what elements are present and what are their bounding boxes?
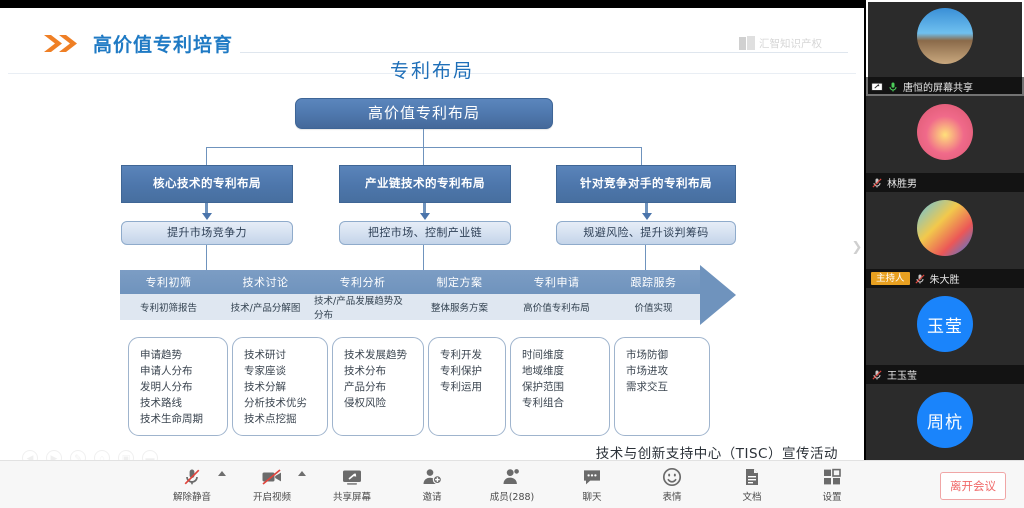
ppt-control-1[interactable]: ◀ (22, 450, 38, 460)
ppt-control-5[interactable]: ▣ (118, 450, 134, 460)
avatar: 周杭 (917, 392, 973, 448)
participant-tile-3[interactable]: 主持人朱大胜 (866, 192, 1024, 288)
participant-name: 王玉莹 (887, 367, 917, 382)
meeting-window: 高价值专利培育 汇智知识产权 专利布局 高价值专利布局 (0, 0, 1024, 508)
toolbar-item-label: 文档 (742, 489, 761, 503)
connector-band-1 (206, 245, 207, 270)
mic-muted-icon (914, 273, 926, 285)
participants-panel[interactable]: ▾ 唐恒的屏幕共享林胜男主持人朱大胜玉莹王玉莹周杭周杭 (866, 0, 1024, 460)
node-root-label: 高价值专利布局 (368, 105, 480, 122)
brand-logo: 汇智知识产权 (739, 36, 822, 51)
participant-name-bar: 林胜男 (866, 173, 1024, 192)
caret-up-icon[interactable] (298, 471, 306, 476)
band-stage-row: 专利初筛技术讨论专利分析制定方案专利申请跟踪服务 (120, 270, 702, 294)
band-output-3: 技术/产品发展趋势及分布 (314, 294, 411, 320)
band-stage-1: 专利初筛 (120, 270, 217, 294)
participant-name-bar: 王玉莹 (866, 365, 1024, 384)
arrow-head-2 (420, 213, 430, 220)
arrow-head-1 (202, 213, 212, 220)
chevron-right-icon: ❯ (852, 239, 863, 255)
connector-band-3 (645, 245, 646, 270)
toolbar-开启视频-button[interactable]: 开启视频 (245, 467, 299, 503)
avatar (917, 8, 973, 64)
avatar: 玉莹 (917, 296, 973, 352)
mic-muted-icon (182, 467, 202, 487)
participant-tile-4[interactable]: 玉莹王玉莹 (866, 288, 1024, 384)
avatar (917, 104, 973, 160)
screen-share-icon (871, 81, 883, 93)
connector-drop-2 (423, 147, 424, 165)
node-branch-2-label: 产业链技术的专利布局 (365, 177, 485, 190)
host-badge: 主持人 (871, 272, 910, 286)
node-outcome-2: 把控市场、控制产业链 (339, 221, 511, 245)
ppt-control-2[interactable]: ▶ (46, 450, 62, 460)
avatar (917, 200, 973, 256)
toolbar-聊天-button[interactable]: 聊天 (565, 467, 619, 503)
toolbar-item-label: 表情 (662, 489, 681, 503)
detail-box-4: 专利开发 专利保护 专利运用 (428, 337, 506, 436)
arrow-head-3 (642, 213, 652, 220)
chat-icon (582, 467, 602, 487)
participant-name-bar: 主持人朱大胜 (866, 269, 1024, 288)
band-stage-6: 跟踪服务 (605, 270, 702, 294)
toolbar-items: 解除静音开启视频共享屏幕邀请成员(288)聊天表情文档设置 (0, 461, 1024, 508)
node-branch-2: 产业链技术的专利布局 (339, 165, 511, 203)
connector-band-2 (423, 245, 424, 270)
leave-meeting-button[interactable]: 离开会议 (940, 472, 1006, 500)
shared-screen-area: 高价值专利培育 汇智知识产权 专利布局 高价值专利布局 (0, 8, 864, 460)
toolbar-表情-button[interactable]: 表情 (645, 467, 699, 503)
mic-muted-icon (871, 369, 883, 381)
toolbar-item-label: 成员(288) (490, 489, 535, 503)
detail-box-1: 申请趋势 申请人分布 发明人分布 技术路线 技术生命周期 (128, 337, 228, 436)
double-chevron-icon (44, 35, 88, 52)
meeting-toolbar: 解除静音开启视频共享屏幕邀请成员(288)聊天表情文档设置 离开会议 (0, 460, 1024, 508)
toolbar-item-label: 设置 (822, 489, 841, 503)
ppt-control-4[interactable]: ⌂ (94, 450, 110, 460)
detail-box-3: 技术发展趋势 技术分布 产品分布 侵权风险 (332, 337, 424, 436)
toolbar-文档-button[interactable]: 文档 (725, 467, 779, 503)
emoji-icon (662, 467, 682, 487)
detail-box-2: 技术研讨 专家座谈 技术分解 分析技术优劣 技术点挖掘 (232, 337, 328, 436)
node-outcome-2-label: 把控市场、控制产业链 (368, 227, 482, 240)
toolbar-item-label: 聊天 (582, 489, 601, 503)
band-output-row: 专利初筛报告技术/产品分解图技术/产品发展趋势及分布整体服务方案高价值专利布局价… (120, 294, 702, 320)
band-stage-4: 制定方案 (411, 270, 508, 294)
panel-collapse-button[interactable]: ❯ (848, 230, 866, 264)
camera-off-icon (261, 467, 283, 487)
band-output-4: 整体服务方案 (411, 294, 508, 320)
detail-box-5: 时间维度 地域维度 保护范围 专利组合 (510, 337, 610, 436)
process-arrow-band: 专利初筛技术讨论专利分析制定方案专利申请跟踪服务 专利初筛报告技术/产品分解图技… (120, 270, 736, 320)
participant-tile-5[interactable]: 周杭周杭 (866, 384, 1024, 460)
ppt-control-3[interactable]: ✎ (70, 450, 86, 460)
detail-box-6: 市场防御 市场进攻 需求交互 (614, 337, 710, 436)
toolbar-共享屏幕-button[interactable]: 共享屏幕 (325, 467, 379, 503)
invite-user-icon (422, 467, 442, 487)
toolbar-成员-button[interactable]: 成员(288) (485, 467, 539, 503)
slide-footer-text: 技术与创新支持中心（TISC）宣传活动 (596, 442, 838, 460)
toolbar-邀请-button[interactable]: 邀请 (405, 467, 459, 503)
presentation-controls[interactable]: ◀▶✎⌂▣▬ (22, 450, 158, 460)
band-stage-2: 技术讨论 (217, 270, 314, 294)
toolbar-设置-button[interactable]: 设置 (805, 467, 859, 503)
slide-title: 专利布局 (8, 56, 856, 83)
band-output-6: 价值实现 (605, 294, 702, 320)
node-outcome-3-label: 规避风险、提升谈判筹码 (583, 227, 708, 240)
toolbar-item-label: 解除静音 (173, 489, 211, 503)
participant-name: 朱大胜 (930, 271, 960, 286)
toolbar-解除静音-button[interactable]: 解除静音 (165, 467, 219, 503)
connector-drop-1 (206, 147, 207, 165)
share-screen-icon (341, 467, 363, 487)
presentation-slide: 高价值专利培育 汇智知识产权 专利布局 高价值专利布局 (8, 10, 856, 458)
node-outcome-3: 规避风险、提升谈判筹码 (556, 221, 736, 245)
band-arrow-head (700, 265, 736, 325)
node-branch-3-label: 针对竞争对手的专利布局 (580, 177, 712, 190)
node-branch-1-label: 核心技术的专利布局 (153, 177, 261, 190)
participant-tile-2[interactable]: 林胜男 (866, 96, 1024, 192)
band-output-1: 专利初筛报告 (120, 294, 217, 320)
mic-muted-icon (871, 177, 883, 189)
node-branch-1: 核心技术的专利布局 (121, 165, 293, 203)
participant-name: 林胜男 (887, 175, 917, 190)
band-stage-3: 专利分析 (314, 270, 411, 294)
node-branch-3: 针对竞争对手的专利布局 (556, 165, 736, 203)
ppt-control-6[interactable]: ▬ (142, 450, 158, 460)
node-root: 高价值专利布局 (295, 98, 553, 129)
mic-on-icon (887, 81, 899, 93)
document-icon (742, 467, 762, 487)
node-outcome-1: 提升市场竞争力 (121, 221, 293, 245)
toolbar-item-label: 邀请 (422, 489, 441, 503)
participant-name-bar: 唐恒的屏幕共享 (866, 77, 1024, 96)
slide-header-title: 高价值专利培育 (93, 30, 233, 57)
band-output-5: 高价值专利布局 (508, 294, 605, 320)
toolbar-item-label: 开启视频 (253, 489, 291, 503)
node-outcome-1-label: 提升市场竞争力 (167, 227, 247, 240)
band-output-2: 技术/产品分解图 (217, 294, 314, 320)
settings-grid-icon (822, 467, 842, 487)
book-logo-icon (739, 36, 755, 51)
header-rule (240, 52, 848, 53)
participant-tile-1[interactable]: 唐恒的屏幕共享 (866, 0, 1024, 96)
band-stage-5: 专利申请 (508, 270, 605, 294)
participants-icon (502, 467, 522, 487)
caret-up-icon[interactable] (218, 471, 226, 476)
toolbar-item-label: 共享屏幕 (333, 489, 371, 503)
brand-logo-text: 汇智知识产权 (759, 36, 822, 51)
connector-root-stem (423, 129, 424, 148)
participant-name: 唐恒的屏幕共享 (903, 79, 973, 94)
connector-drop-3 (641, 147, 642, 165)
